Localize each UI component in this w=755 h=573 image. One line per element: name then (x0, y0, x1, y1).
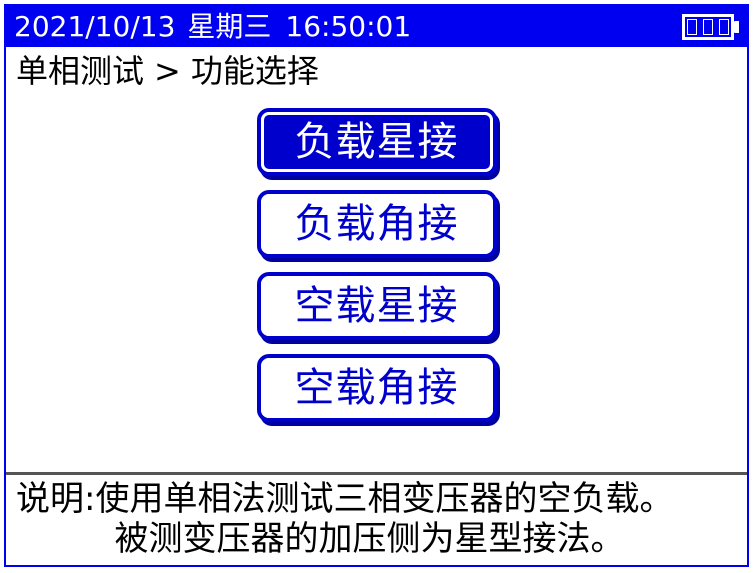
battery-icon (682, 14, 739, 40)
status-date: 2021/10/13 (14, 13, 175, 41)
menu-button-load-star[interactable]: 负载星接 (257, 108, 497, 176)
menu-button-label: 空载角接 (295, 368, 459, 408)
menu-button-label: 空载星接 (295, 286, 459, 326)
description-line-2: 被测变压器的加压侧为星型接法。 (12, 519, 741, 559)
battery-cell (719, 19, 729, 35)
breadcrumb-current: 功能选择 (191, 55, 319, 87)
device-screen: 2021/10/13 星期三 16:50:01 单相测试 > 功能选择 负载星接… (4, 4, 749, 567)
breadcrumb-separator-icon: > (154, 55, 181, 87)
breadcrumb-root[interactable]: 单相测试 (16, 55, 144, 87)
menu-button-noload-star[interactable]: 空载星接 (257, 272, 497, 340)
function-select-menu: 负载星接 负载角接 空载星接 空载角接 (6, 95, 747, 472)
description-line-1: 说明:使用单相法测试三相变压器的空负载。 (12, 479, 741, 519)
battery-cell (687, 19, 697, 35)
status-time: 16:50:01 (285, 13, 411, 41)
menu-button-inner: 空载角接 (261, 358, 493, 418)
battery-cell (703, 19, 713, 35)
menu-button-load-delta[interactable]: 负载角接 (257, 190, 497, 258)
menu-button-inner: 空载星接 (261, 276, 493, 336)
description-panel: 说明:使用单相法测试三相变压器的空负载。 被测变压器的加压侧为星型接法。 (6, 472, 747, 565)
battery-nub (734, 21, 739, 33)
menu-button-noload-delta[interactable]: 空载角接 (257, 354, 497, 422)
breadcrumb: 单相测试 > 功能选择 (6, 47, 747, 95)
menu-button-label: 负载角接 (295, 204, 459, 244)
battery-body (682, 14, 734, 40)
menu-button-inner: 负载角接 (261, 194, 493, 254)
menu-button-inner: 负载星接 (261, 112, 493, 172)
menu-button-label: 负载星接 (295, 122, 459, 162)
title-bar: 2021/10/13 星期三 16:50:01 (6, 6, 747, 47)
status-weekday: 星期三 (187, 13, 271, 41)
